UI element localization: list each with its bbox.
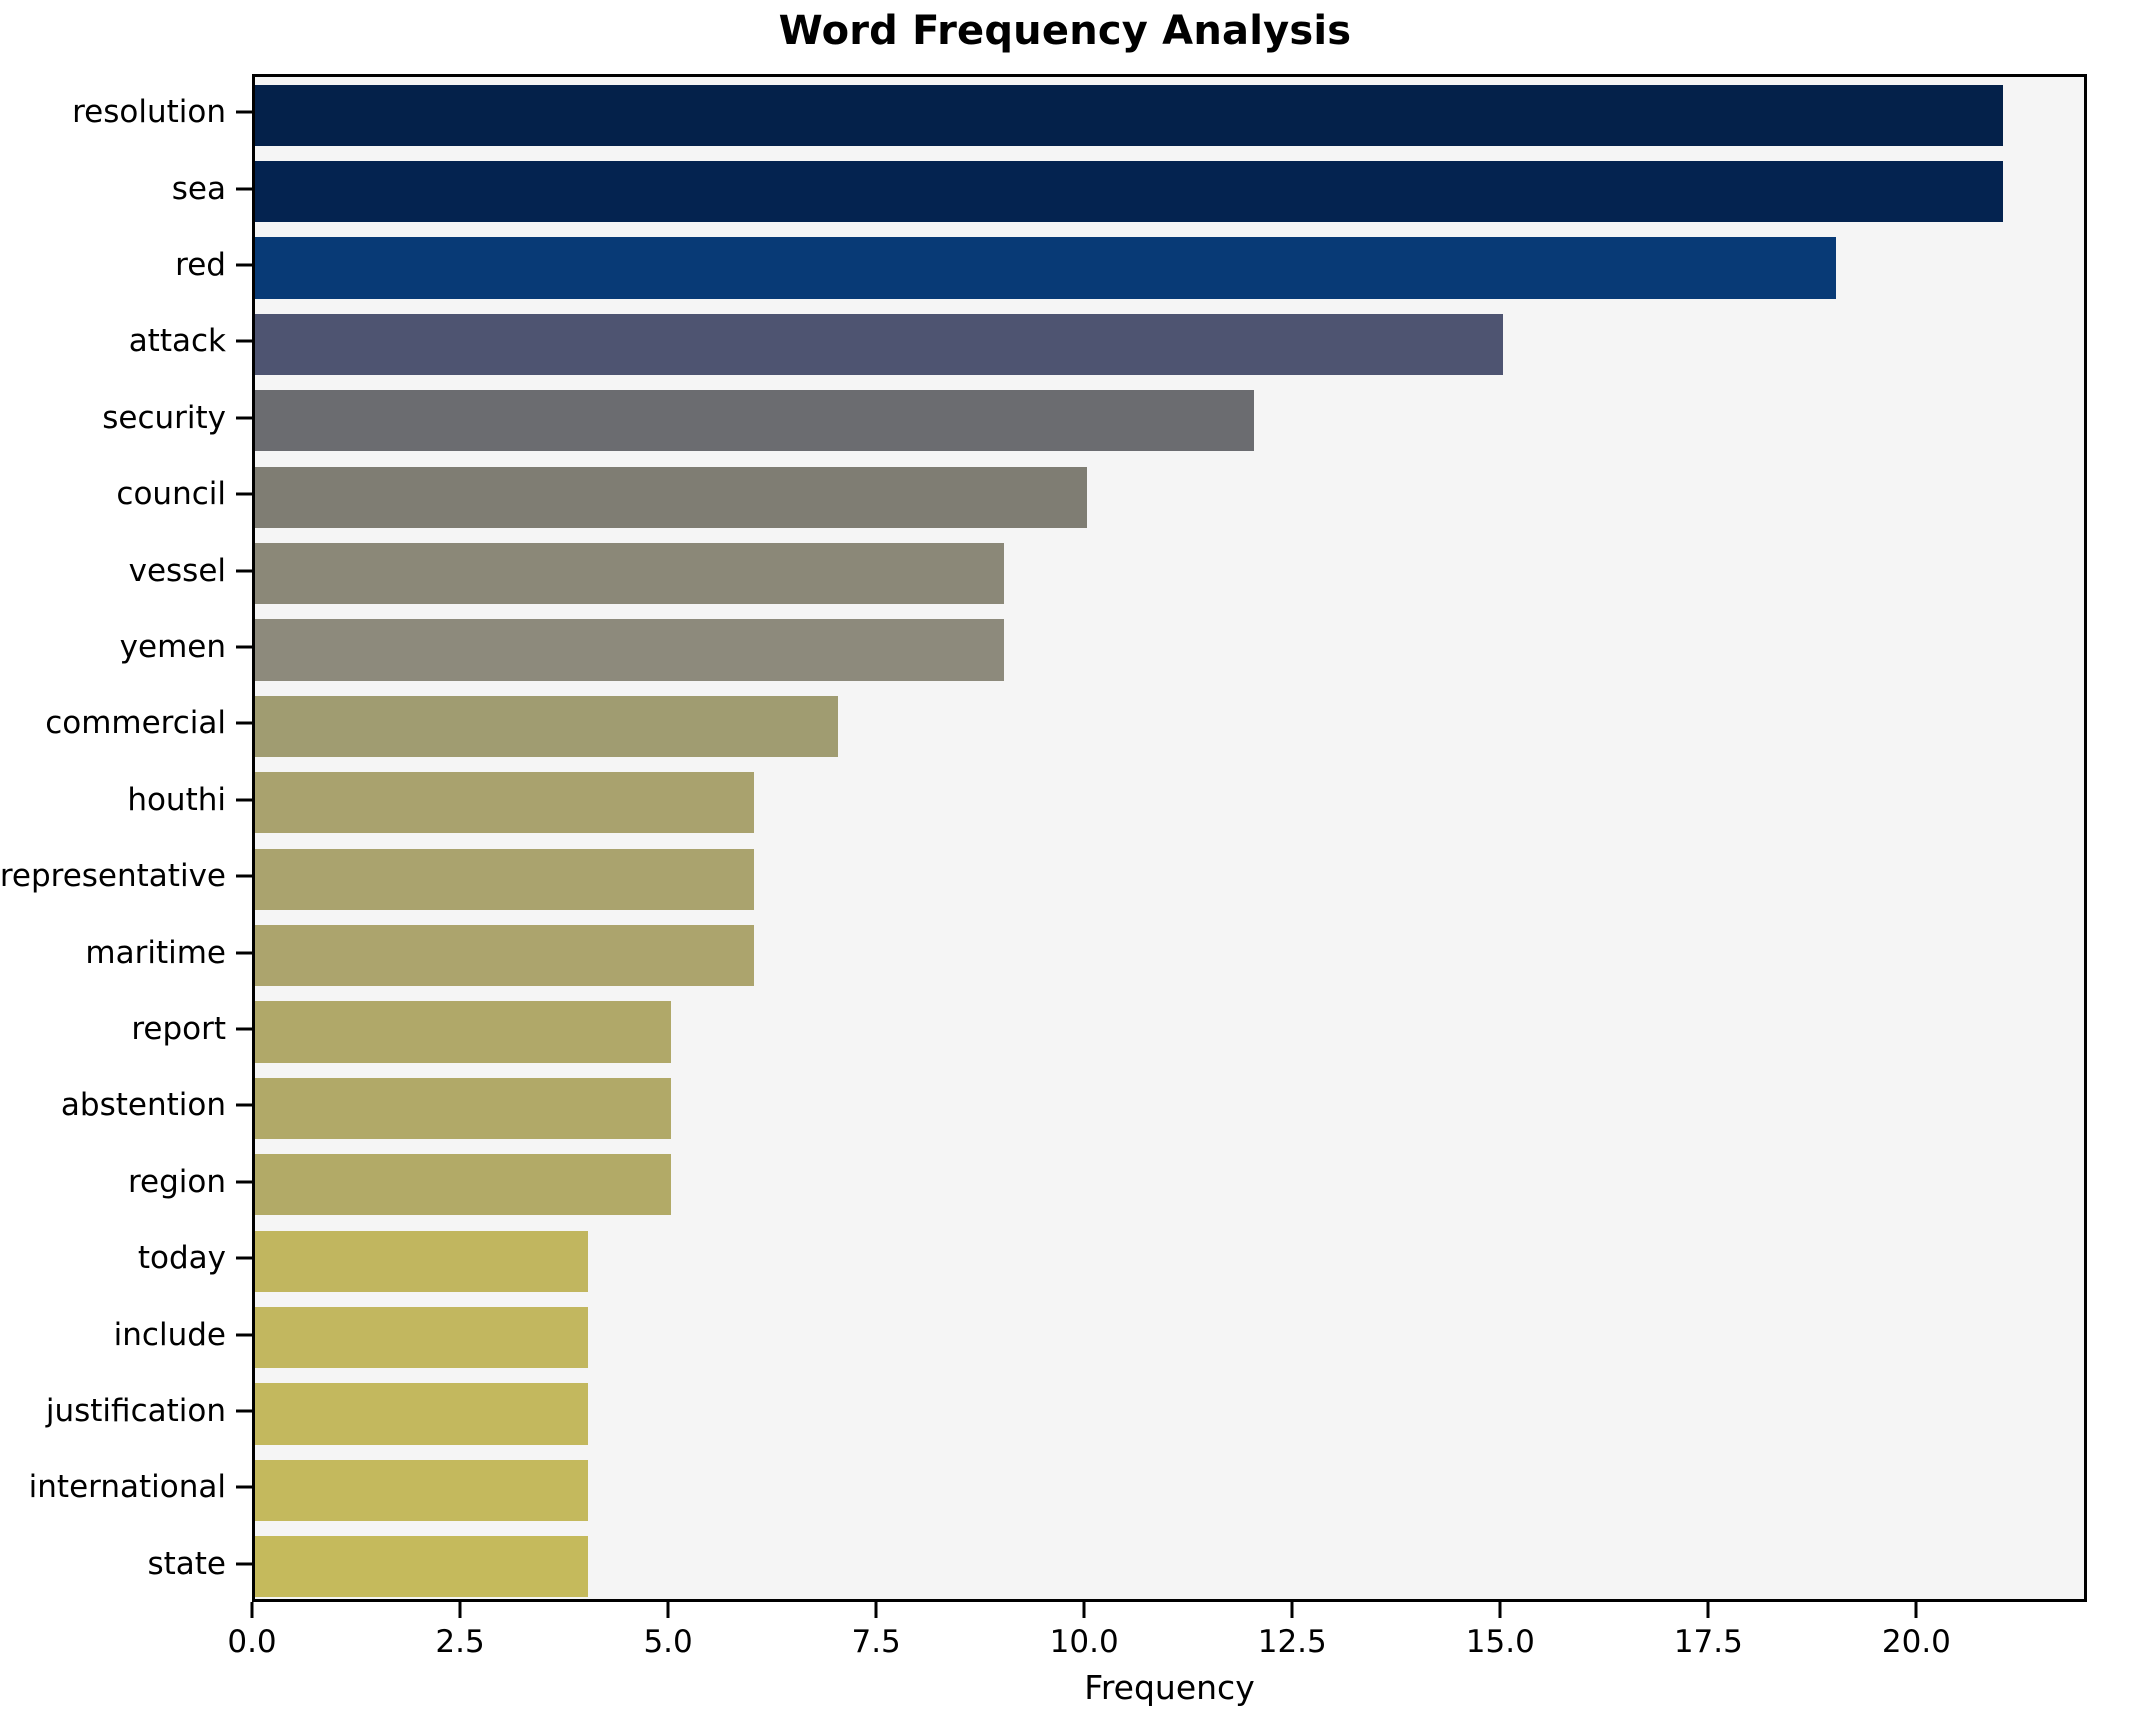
- y-tick-label-resolution: resolution: [72, 94, 226, 130]
- x-tick-label-10.0: 10.0: [1050, 1624, 1119, 1660]
- x-tick-mark: [1083, 1602, 1086, 1618]
- bar-maritime[interactable]: [255, 925, 754, 986]
- y-tick-mark: [236, 798, 252, 801]
- x-tick-mark: [1291, 1602, 1294, 1618]
- y-tick-mark: [236, 1486, 252, 1489]
- bar-state[interactable]: [255, 1536, 588, 1597]
- y-tick-mark: [236, 1028, 252, 1031]
- y-tick-label-report: report: [131, 1011, 226, 1047]
- y-tick-label-justification: justification: [46, 1393, 226, 1429]
- bar-row: [255, 1231, 2084, 1292]
- bars-layer: [255, 77, 2084, 1599]
- y-tick-label-council: council: [116, 476, 226, 512]
- y-tick-mark: [236, 340, 252, 343]
- y-tick-label-security: security: [102, 400, 226, 436]
- y-tick-label-vessel: vessel: [129, 553, 226, 589]
- y-tick-mark: [236, 1333, 252, 1336]
- bar-vessel[interactable]: [255, 543, 1004, 604]
- x-tick-mark: [1499, 1602, 1502, 1618]
- y-tick-mark: [236, 1562, 252, 1565]
- bar-include[interactable]: [255, 1307, 588, 1368]
- bar-row: [255, 849, 2084, 910]
- bar-today[interactable]: [255, 1231, 588, 1292]
- y-tick-mark: [236, 646, 252, 649]
- y-tick-label-maritime: maritime: [85, 935, 226, 971]
- y-tick-mark: [236, 264, 252, 267]
- y-tick-label-red: red: [175, 247, 226, 283]
- y-tick-label-sea: sea: [172, 171, 226, 207]
- y-tick-mark: [236, 187, 252, 190]
- plot-area: [252, 74, 2087, 1602]
- x-tick-label-20.0: 20.0: [1882, 1624, 1951, 1660]
- bar-resolution[interactable]: [255, 85, 2003, 146]
- bar-row: [255, 467, 2084, 528]
- chart-page: Word Frequency Analysis resolutionseared…: [0, 0, 2130, 1722]
- bar-row: [255, 696, 2084, 757]
- x-tick-label-0.0: 0.0: [227, 1624, 276, 1660]
- x-tick-mark: [667, 1602, 670, 1618]
- x-tick-label-7.5: 7.5: [851, 1624, 900, 1660]
- y-tick-mark: [236, 111, 252, 114]
- bar-row: [255, 237, 2084, 298]
- x-tick-mark: [459, 1602, 462, 1618]
- bar-international[interactable]: [255, 1460, 588, 1521]
- bar-yemen[interactable]: [255, 619, 1004, 680]
- y-tick-label-region: region: [128, 1164, 226, 1200]
- y-tick-label-yemen: yemen: [120, 629, 226, 665]
- y-tick-label-include: include: [114, 1317, 226, 1353]
- y-tick-mark: [236, 1257, 252, 1260]
- bar-row: [255, 161, 2084, 222]
- x-tick-label-2.5: 2.5: [435, 1624, 484, 1660]
- bar-row: [255, 390, 2084, 451]
- y-tick-label-abstention: abstention: [61, 1087, 226, 1123]
- bar-justification[interactable]: [255, 1383, 588, 1444]
- y-tick-label-representative: representative: [0, 858, 226, 894]
- bar-security[interactable]: [255, 390, 1254, 451]
- bar-row: [255, 1536, 2084, 1597]
- y-tick-mark: [236, 1104, 252, 1107]
- x-tick-label-5.0: 5.0: [643, 1624, 692, 1660]
- bar-region[interactable]: [255, 1154, 671, 1215]
- bar-commercial[interactable]: [255, 696, 838, 757]
- x-tick-mark: [1707, 1602, 1710, 1618]
- bar-representative[interactable]: [255, 849, 754, 910]
- x-tick-mark: [251, 1602, 254, 1618]
- bar-row: [255, 85, 2084, 146]
- y-tick-mark: [236, 1410, 252, 1413]
- bar-row: [255, 543, 2084, 604]
- bar-row: [255, 925, 2084, 986]
- bar-abstention[interactable]: [255, 1078, 671, 1139]
- bar-row: [255, 1078, 2084, 1139]
- bar-council[interactable]: [255, 467, 1087, 528]
- bar-row: [255, 1154, 2084, 1215]
- y-tick-mark: [236, 493, 252, 496]
- bar-attack[interactable]: [255, 314, 1503, 375]
- y-tick-mark: [236, 416, 252, 419]
- y-tick-mark: [236, 875, 252, 878]
- y-tick-label-state: state: [147, 1546, 226, 1582]
- bar-row: [255, 1460, 2084, 1521]
- y-tick-mark: [236, 569, 252, 572]
- x-axis-title: Frequency: [252, 1668, 2087, 1707]
- bar-red[interactable]: [255, 237, 1836, 298]
- page-title: Word Frequency Analysis: [0, 8, 2130, 54]
- x-tick-mark: [1915, 1602, 1918, 1618]
- bar-row: [255, 1001, 2084, 1062]
- y-tick-label-attack: attack: [129, 323, 226, 359]
- x-tick-label-12.5: 12.5: [1258, 1624, 1327, 1660]
- bar-row: [255, 619, 2084, 680]
- x-tick-mark: [875, 1602, 878, 1618]
- bar-row: [255, 1307, 2084, 1368]
- bar-sea[interactable]: [255, 161, 2003, 222]
- x-tick-label-15.0: 15.0: [1466, 1624, 1535, 1660]
- bar-report[interactable]: [255, 1001, 671, 1062]
- y-tick-label-houthi: houthi: [127, 782, 226, 818]
- y-axis: resolutionsearedattacksecuritycouncilves…: [0, 74, 252, 1602]
- x-tick-label-17.5: 17.5: [1674, 1624, 1743, 1660]
- bar-row: [255, 314, 2084, 375]
- y-tick-label-today: today: [138, 1240, 226, 1276]
- y-tick-label-international: international: [29, 1469, 226, 1505]
- y-tick-label-commercial: commercial: [45, 705, 226, 741]
- bar-row: [255, 772, 2084, 833]
- y-tick-mark: [236, 1180, 252, 1183]
- y-tick-mark: [236, 722, 252, 725]
- bar-row: [255, 1383, 2084, 1444]
- y-tick-mark: [236, 951, 252, 954]
- bar-houthi[interactable]: [255, 772, 754, 833]
